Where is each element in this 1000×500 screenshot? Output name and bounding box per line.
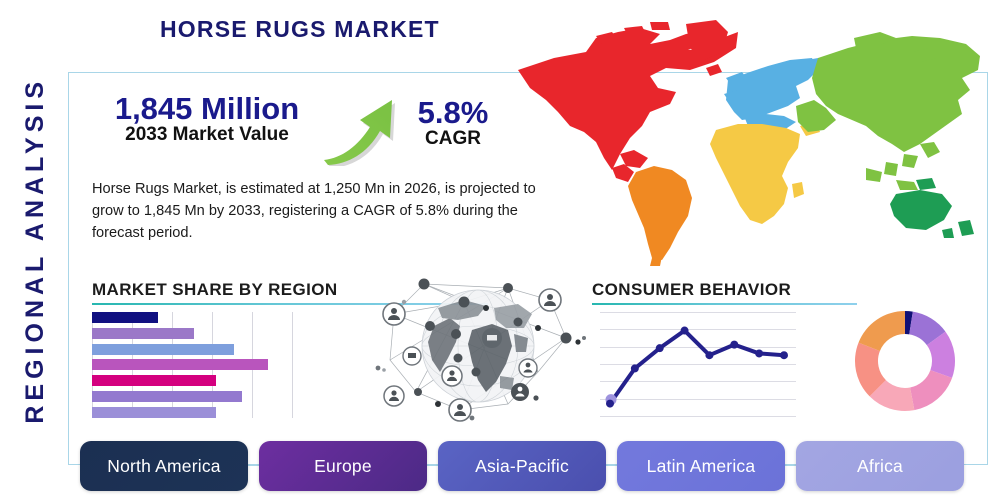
side-label-text: REGIONAL ANALYSIS — [21, 77, 50, 424]
tab-connector — [785, 465, 796, 466]
infographic-root: REGIONAL ANALYSIS HORSE RUGS MARKET 1,84… — [0, 0, 1000, 500]
bar-segment — [92, 375, 216, 386]
line-marker — [780, 351, 788, 359]
market-share-bar-chart — [92, 312, 292, 418]
region-tab-latin-america[interactable]: Latin America — [617, 441, 785, 491]
kpi-market-value-label: 2033 Market Value — [92, 125, 322, 146]
tab-connector — [427, 465, 438, 466]
donut-segment — [859, 311, 905, 351]
bar-gridline — [292, 312, 293, 418]
section-consumer-behavior-rule — [592, 303, 857, 305]
bar-row — [92, 375, 292, 386]
line-marker — [730, 341, 738, 349]
section-market-share: MARKET SHARE BY REGION — [92, 280, 302, 305]
bar-segment — [92, 391, 242, 402]
bar-segment — [92, 328, 194, 339]
kpi-market-value: 1,845 Million 2033 Market Value — [92, 92, 322, 146]
line-marker — [631, 364, 639, 372]
kpi-market-value-number: 1,845 Million — [92, 92, 322, 125]
growth-arrow-icon — [320, 94, 404, 166]
line-marker — [705, 351, 713, 359]
section-consumer-behavior-title: CONSUMER BEHAVIOR — [592, 280, 802, 300]
regional-analysis-side-label: REGIONAL ANALYSIS — [8, 50, 62, 450]
bar-segment — [92, 344, 234, 355]
bar-row — [92, 328, 292, 339]
line-marker — [606, 400, 614, 408]
region-tab-africa[interactable]: Africa — [796, 441, 964, 491]
page-title: HORSE RUGS MARKET — [160, 16, 440, 43]
region-tab-asia-pacific[interactable]: Asia-Pacific — [438, 441, 606, 491]
region-tabs: North AmericaEuropeAsia-PacificLatin Ame… — [80, 441, 970, 491]
world-map-icon — [500, 8, 996, 270]
consumer-behavior-line-chart — [600, 312, 796, 418]
region-tab-label: Latin America — [647, 456, 756, 477]
donut-segment — [910, 370, 952, 410]
region-tab-europe[interactable]: Europe — [259, 441, 427, 491]
bar-row — [92, 312, 292, 323]
bar-segment — [92, 312, 158, 323]
tab-connector — [606, 465, 617, 466]
section-consumer-behavior: CONSUMER BEHAVIOR — [592, 280, 802, 305]
line-marker — [681, 327, 689, 335]
bar-row — [92, 407, 292, 418]
bar-row — [92, 391, 292, 402]
bar-row — [92, 344, 292, 355]
region-tab-north-america[interactable]: North America — [80, 441, 248, 491]
tab-connector — [248, 465, 259, 466]
line-chart-series — [600, 312, 796, 418]
bar-segment — [92, 407, 216, 418]
region-tab-label: Asia-Pacific — [475, 456, 569, 477]
kpi-cagr: 5.8% CAGR — [398, 96, 508, 150]
line-marker — [755, 349, 763, 357]
region-tab-label: Europe — [314, 456, 372, 477]
globe-network-icon — [368, 272, 586, 424]
region-tab-label: Africa — [857, 456, 903, 477]
bar-row — [92, 359, 292, 370]
kpi-row: 1,845 Million 2033 Market Value 5.8% CAG… — [92, 92, 512, 168]
consumer-donut-chart — [852, 308, 958, 414]
market-description: Horse Rugs Market, is estimated at 1,250… — [92, 178, 562, 245]
line-marker — [656, 344, 664, 352]
section-market-share-title: MARKET SHARE BY REGION — [92, 280, 302, 300]
bar-chart-bars — [92, 312, 292, 418]
kpi-cagr-number: 5.8% — [398, 96, 508, 129]
bar-segment — [92, 359, 268, 370]
kpi-cagr-label: CAGR — [398, 129, 508, 150]
region-tab-label: North America — [107, 456, 220, 477]
